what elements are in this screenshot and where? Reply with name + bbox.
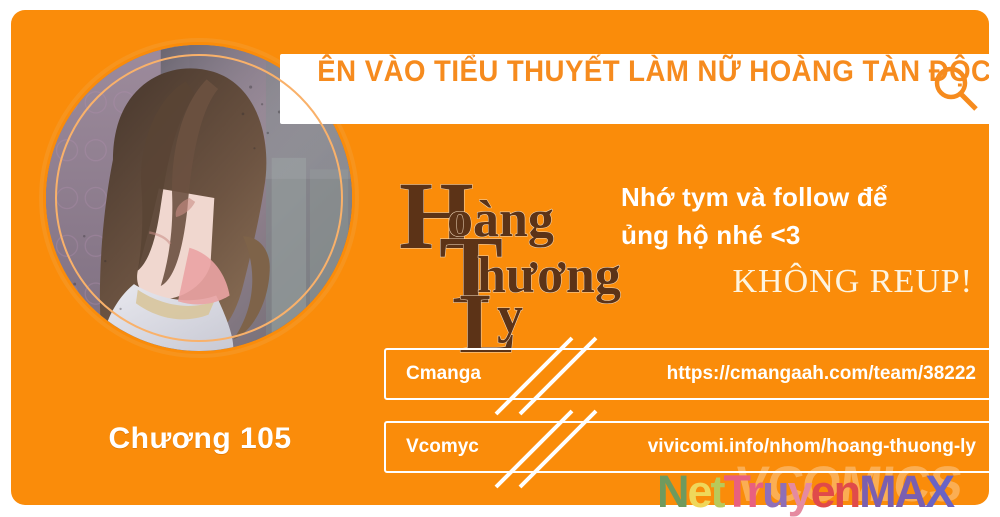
credit-panel: ÊN VÀO TIỂU THUYẾT LÀM NỮ HOÀNG TÀN ĐỘC … (11, 10, 989, 505)
slash-divider-icon (494, 336, 624, 418)
chapter-label: Chương 105 (41, 422, 359, 456)
search-icon[interactable] (930, 63, 982, 115)
brand-letter-4: r (747, 466, 763, 517)
brand-letter-0: N (657, 466, 688, 517)
page-title: ÊN VÀO TIỂU THUYẾT LÀM NỮ HOÀNG TÀN ĐỘC (288, 72, 989, 106)
brand-letter-2: t (711, 466, 724, 517)
page-title-text: ÊN VÀO TIỂU THUYẾT LÀM NỮ HOÀNG TÀN ĐỘC (317, 55, 989, 89)
brand-letter-7: e (811, 466, 834, 517)
brand-letter-1: e (688, 466, 711, 517)
nettruyenmax-watermark: NetTruyenMAX (657, 468, 997, 516)
brand-letter-11: X (925, 466, 953, 517)
link-label: Cmanga (406, 363, 481, 385)
group-logo: H oàng T hương L y (399, 172, 599, 322)
link-label: Vcomyc (406, 436, 479, 458)
link-row-cmanga[interactable]: Cmanga https://cmangaah.com/team/38222 (384, 348, 989, 400)
credit-page: ÊN VÀO TIỂU THUYẾT LÀM NỮ HOÀNG TÀN ĐỘC … (0, 0, 1000, 517)
support-message: Nhớ tym và follow để ủng hộ nhé <3 KHÔNG… (621, 178, 981, 302)
support-message-line1: Nhớ tym và follow để (621, 178, 981, 216)
support-message-line2: ủng hộ nhé <3 (621, 216, 981, 254)
logo-letter-y: y (497, 290, 523, 342)
brand-letter-3: T (724, 466, 747, 517)
brand-letter-9: M (859, 466, 895, 517)
brand-letter-8: n (834, 466, 860, 517)
link-url[interactable]: https://cmangaah.com/team/38222 (667, 363, 976, 385)
title-banner: ÊN VÀO TIỂU THUYẾT LÀM NỮ HOÀNG TÀN ĐỘC (280, 54, 989, 124)
no-reup-notice: KHÔNG REUP! (621, 262, 981, 302)
brand-letter-6: y (788, 466, 811, 517)
slash-divider-icon (494, 409, 624, 491)
brand-letter-5: u (762, 466, 788, 517)
brand-letter-10: A (895, 466, 926, 517)
